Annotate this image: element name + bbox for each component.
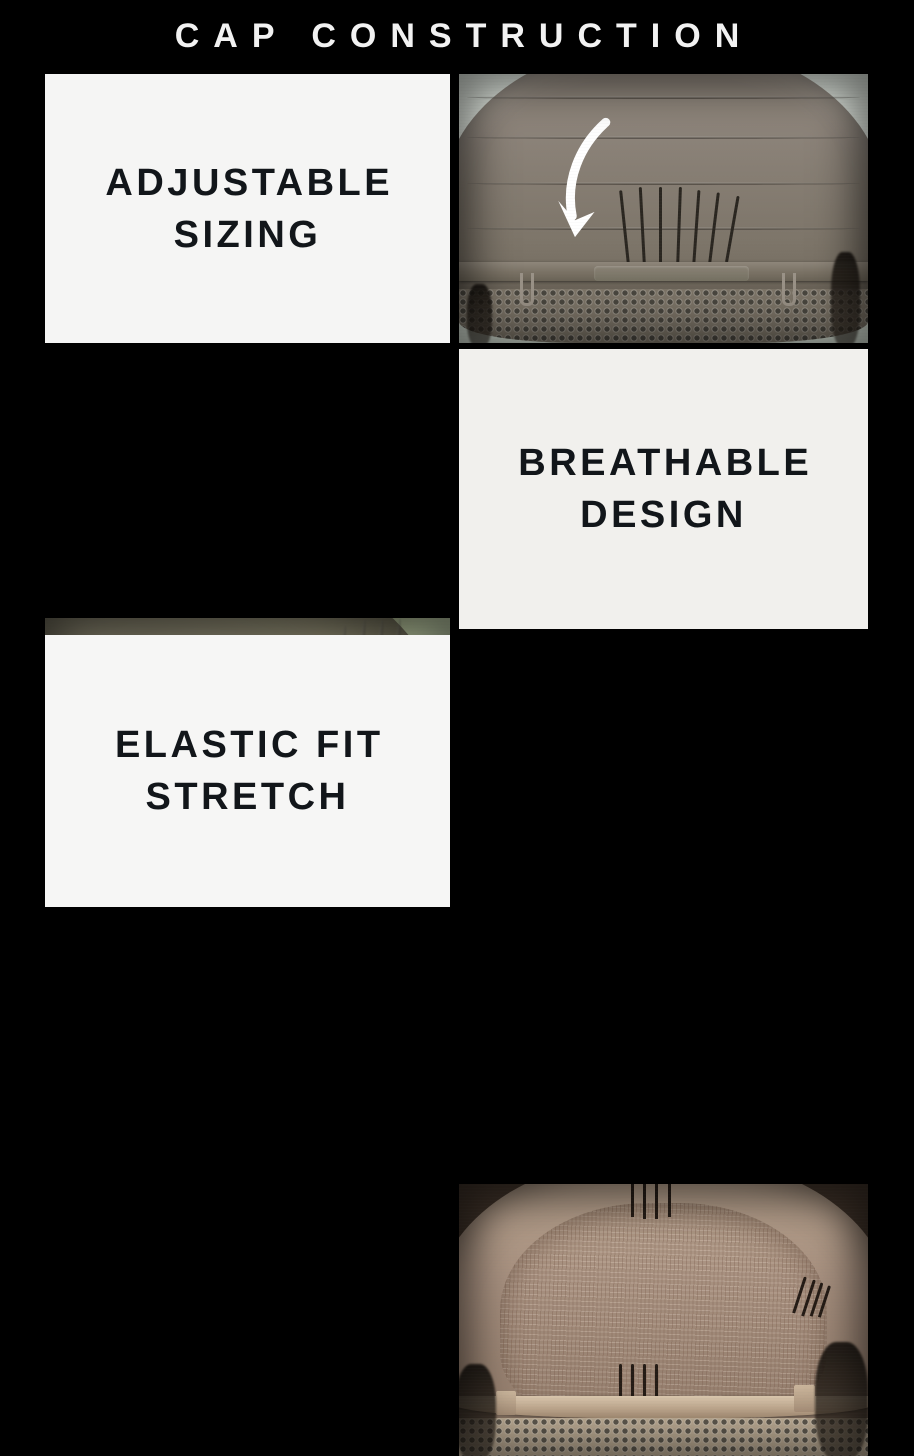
feature-image-adjustable-straps[interactable] bbox=[459, 74, 868, 343]
feature-label-breathable-design: BREATHABLE DESIGN bbox=[515, 437, 812, 541]
hair-strands bbox=[467, 284, 492, 343]
weft-seam bbox=[467, 136, 860, 139]
feature-image-cap-interior[interactable] bbox=[459, 1184, 868, 1456]
feature-label-elastic-fit-stretch: ELASTIC FIT STRETCH bbox=[111, 719, 383, 823]
weft-seam bbox=[467, 96, 860, 99]
feature-card-breathable-design[interactable]: BREATHABLE DESIGN bbox=[459, 349, 868, 629]
comb-tooth bbox=[643, 1184, 646, 1219]
comb-tooth bbox=[655, 1364, 658, 1397]
feature-card-adjustable-sizing[interactable]: ADJUSTABLE SIZING bbox=[45, 74, 450, 343]
cap-construction-poster: CAP CONSTRUCTION ADJUSTABLE SIZING bbox=[0, 0, 914, 914]
comb-tooth bbox=[619, 1364, 622, 1397]
comb-tooth bbox=[631, 1184, 634, 1217]
comb-tooth bbox=[655, 1184, 658, 1219]
comb-tooth bbox=[643, 1364, 646, 1399]
hair-strands bbox=[459, 1364, 496, 1456]
band-tab-left bbox=[496, 1391, 516, 1415]
cap-interior-photo bbox=[459, 1184, 868, 1456]
strap-hook-right bbox=[782, 273, 796, 306]
comb-tooth bbox=[668, 1184, 671, 1217]
feature-card-elastic-fit-stretch[interactable]: ELASTIC FIT STRETCH bbox=[45, 635, 450, 907]
hair-strands bbox=[815, 1342, 868, 1456]
comb-tooth bbox=[659, 187, 662, 270]
feature-label-adjustable-sizing: ADJUSTABLE SIZING bbox=[102, 157, 393, 261]
hair-strands bbox=[831, 252, 860, 343]
stretch-lace-dome bbox=[500, 1203, 827, 1429]
lower-cap-mesh bbox=[459, 1418, 868, 1456]
cap-back-photo bbox=[459, 74, 868, 343]
comb-tooth bbox=[631, 1364, 634, 1399]
strap-velcro-pad bbox=[594, 266, 749, 281]
weft-seam bbox=[467, 182, 860, 185]
feature-grid: ADJUSTABLE SIZING bbox=[45, 74, 868, 907]
page-title: CAP CONSTRUCTION bbox=[0, 16, 914, 56]
strap-hook-left bbox=[520, 273, 534, 306]
band-tab-right bbox=[794, 1385, 814, 1412]
